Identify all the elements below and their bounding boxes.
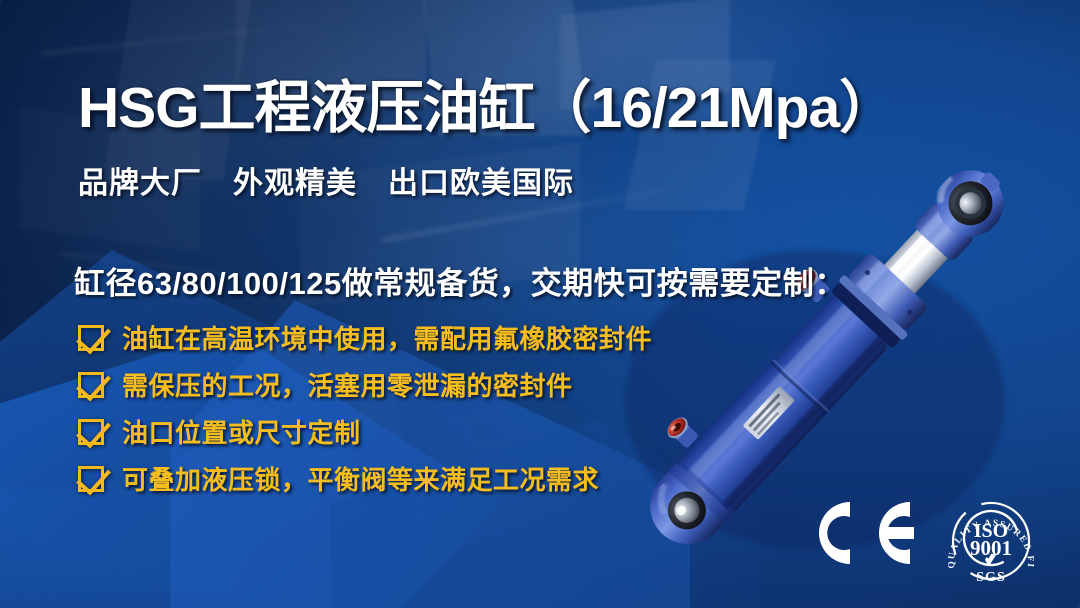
checkbox-checked-icon [78,372,104,398]
iso-9001-sgs-badge-icon: QUALITY ASSURED FIRM ISO 9001 SGS [943,497,1039,589]
checkbox-checked-icon [78,325,104,351]
lead-statement: 缸径63/80/100/125做常规备货，交期快可按需要定制： [74,258,846,303]
list-item-label: 油口位置或尺寸定制 [122,413,361,450]
ce-mark-icon [806,497,916,569]
list-item-label: 油缸在高温环境中使用，需配用氟橡胶密封件 [122,319,652,356]
page-title: HSG工程液压油缸（16/21Mpa） [78,78,895,140]
list-item: 油口位置或尺寸定制 [78,408,838,455]
list-item-label: 需保压的工况，活塞用零泄漏的密封件 [122,366,573,403]
list-item: 需保压的工况，活塞用零泄漏的密封件 [78,361,838,408]
page-subtitle: 品牌大厂 外观精美 出口欧美国际 [78,158,574,202]
iso-body-label: SGS [976,570,1005,585]
feature-list: 油缸在高温环境中使用，需配用氟橡胶密封件 需保压的工况，活塞用零泄漏的密封件 油… [78,314,838,502]
product-banner: HSG工程液压油缸（16/21Mpa） 品牌大厂 外观精美 出口欧美国际 缸径6… [0,0,1080,608]
list-item-label: 可叠加液压锁，平衡阀等来满足工况需求 [122,460,599,497]
checkbox-checked-icon [78,466,104,492]
list-item: 可叠加液压锁，平衡阀等来满足工况需求 [78,455,838,502]
checkbox-checked-icon [78,419,104,445]
list-item: 油缸在高温环境中使用，需配用氟橡胶密封件 [78,314,838,361]
